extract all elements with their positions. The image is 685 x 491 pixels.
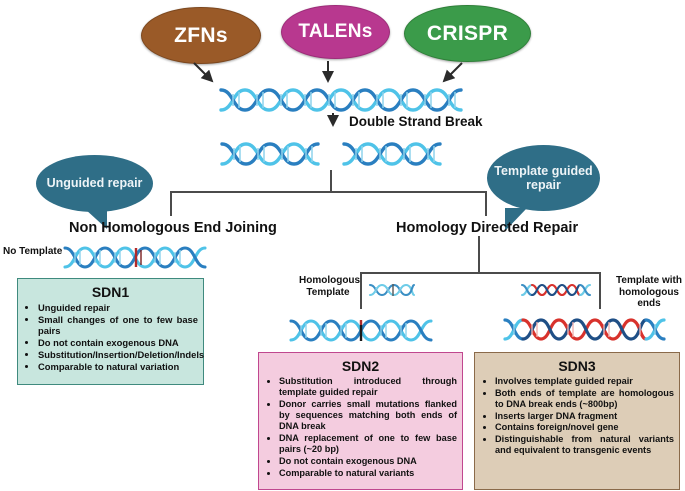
sdn3-bullet: Contains foreign/novel gene xyxy=(495,422,674,433)
break-arrow xyxy=(326,113,340,133)
nuclease-ellipse-zfns[interactable]: ZFNs xyxy=(141,7,261,64)
template-label-homologous-ends: Template with homologous ends xyxy=(613,275,685,310)
connector-branch-hdr xyxy=(485,191,487,216)
sdn2-bullet: Do not contain exogenous DNA xyxy=(279,456,457,467)
sdn1-title: SDN1 xyxy=(23,284,198,300)
dna-helix-sdn2-result xyxy=(288,316,436,346)
pathway-label-hdr: Homology Directed Repair xyxy=(396,220,578,236)
template-label-none: No Template xyxy=(3,246,62,257)
sdn3-box: SDN3 Involves template guided repair Bot… xyxy=(474,352,680,490)
sdn3-bullet: Involves template guided repair xyxy=(495,376,674,387)
sdn2-box: SDN2 Substitution introduced through tem… xyxy=(258,352,463,490)
connector-main-horizontal xyxy=(170,191,486,193)
dna-template-homologous xyxy=(368,281,416,299)
connector-hdr-stem xyxy=(478,236,480,273)
dna-fragment-right xyxy=(340,138,460,170)
speech-bubble-unguided-repair: Unguided repair xyxy=(36,155,153,212)
pathway-label-nhej: Non Homologous End Joining xyxy=(69,220,277,236)
connector-branch-sdn3 xyxy=(599,272,601,309)
sdn1-bullet: Unguided repair xyxy=(38,302,198,313)
sdn1-bullet-list: Unguided repair Small changes of one to … xyxy=(23,302,198,373)
template-label-homologous: Homologous Template xyxy=(299,275,357,298)
nuclease-ellipse-crispr[interactable]: CRISPR xyxy=(404,5,531,62)
connector-hdr-horizontal xyxy=(360,272,600,274)
connector-main-stem xyxy=(330,170,332,192)
sdn2-bullet: DNA replacement of one to few base pairs… xyxy=(279,433,457,455)
sdn2-bullet: Substitution introduced through template… xyxy=(279,376,457,398)
sdn1-bullet: Comparable to natural variation xyxy=(38,361,198,372)
sdn2-bullet: Comparable to natural variants xyxy=(279,468,457,479)
connector-branch-sdn2 xyxy=(360,272,362,309)
speech-bubble-unguided-label: Unguided repair xyxy=(47,176,143,190)
speech-bubble-template-label: Template guided repair xyxy=(493,164,594,193)
dna-helix-nhej-repaired xyxy=(62,243,212,273)
dna-fragment-left xyxy=(218,138,328,170)
sdn3-title: SDN3 xyxy=(480,358,674,374)
sdn3-bullet: Inserts larger DNA fragment xyxy=(495,411,674,422)
sdn2-bullet: Donor carries small mutations flanked by… xyxy=(279,399,457,433)
nuclease-label-crispr: CRISPR xyxy=(427,22,508,46)
nuclease-ellipse-talens[interactable]: TALENs xyxy=(281,5,390,59)
sdn3-bullet: Distinguishable from natural variants an… xyxy=(495,434,674,456)
sdn2-bullet-list: Substitution introduced through template… xyxy=(264,376,457,479)
sdn2-title: SDN2 xyxy=(264,358,457,374)
sdn3-bullet-list: Involves template guided repair Both end… xyxy=(480,376,674,457)
sdn1-box: SDN1 Unguided repair Small changes of on… xyxy=(17,278,204,385)
nuclease-label-talens: TALENs xyxy=(298,21,372,43)
double-strand-break-label: Double Strand Break xyxy=(349,114,483,129)
dna-helix-intact xyxy=(217,84,472,116)
diagram-canvas: ZFNs TALENs CRISPR xyxy=(0,0,685,491)
sdn1-bullet: Do not contain exogenous DNA xyxy=(38,337,198,348)
sdn1-bullet: Small changes of one to few base pairs xyxy=(38,314,198,337)
speech-bubble-template-guided: Template guided repair xyxy=(487,145,600,211)
nuclease-label-zfns: ZFNs xyxy=(174,24,228,48)
connector-branch-nhej xyxy=(170,191,172,216)
sdn3-bullet: Both ends of template are homologous to … xyxy=(495,388,674,410)
sdn1-bullet: Substitution/Insertion/Deletion/Indels xyxy=(38,349,198,360)
dna-helix-sdn3-result xyxy=(502,314,668,346)
dna-template-homologous-ends xyxy=(520,281,592,299)
